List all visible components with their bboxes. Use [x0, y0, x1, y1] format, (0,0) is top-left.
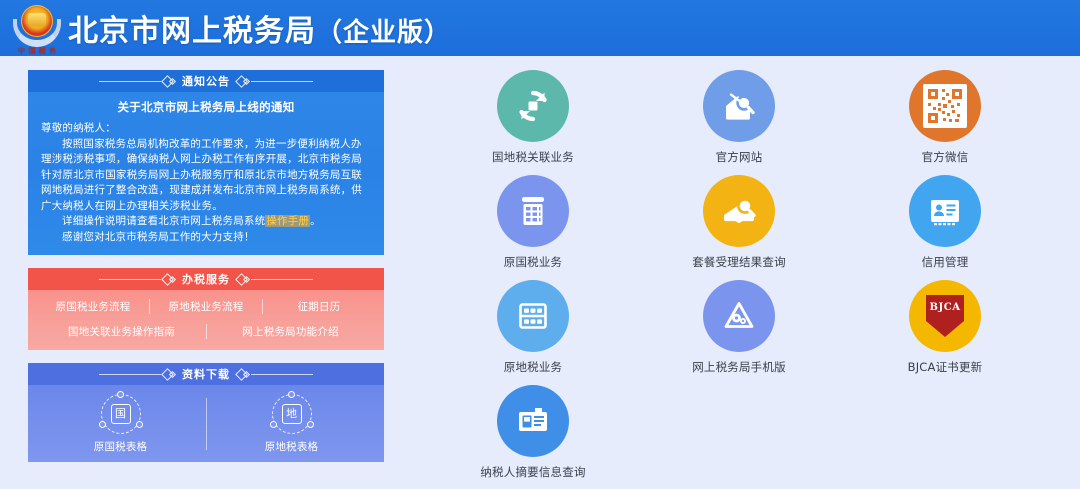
icon-circle — [497, 70, 569, 142]
building-grid-icon — [513, 191, 553, 231]
grid-item-official-website[interactable]: 官方网站 — [636, 70, 842, 175]
service-links-row-1: 原国税业务流程 原地税业务流程 征期日历 — [28, 297, 384, 316]
service-link-tax-period-calendar[interactable]: 征期日历 — [263, 297, 375, 316]
grid-item-former-national-tax-business[interactable]: 原国税业务 — [430, 175, 636, 280]
notice-paragraph-2-tail: 。 — [310, 215, 321, 227]
grid-item-official-wechat[interactable]: 官方微信 — [842, 70, 1048, 175]
service-panel-header: 办税服务 — [28, 268, 384, 290]
grid-item-label: 套餐受理结果查询 — [692, 254, 786, 270]
header-title-suffix: （企业版） — [316, 18, 451, 48]
grid-item-label: 信用管理 — [922, 254, 969, 270]
grid-item-mobile-version[interactable]: 网上税务局手机版 — [636, 280, 842, 385]
grid-item-joint-tax-business[interactable]: 国地税关联业务 — [430, 70, 636, 175]
network-ring-icon: 地 — [272, 394, 312, 434]
icon-circle — [909, 175, 981, 247]
download-item-glyph: 国 — [111, 404, 131, 424]
notice-paragraph-3: 感谢您对北京市税务局工作的大力支持！ — [41, 230, 371, 246]
icon-grid-row: 原国税业务 套餐受理结果查询 — [430, 175, 1050, 280]
download-item-label: 原国税表格 — [94, 439, 148, 454]
gear-triangle-icon — [719, 296, 759, 336]
bjca-badge-text: BJCA — [930, 302, 961, 313]
grid-item-label: 网上税务局手机版 — [692, 359, 786, 375]
ornament-right-icon — [237, 370, 313, 379]
grid-item-label: 国地税关联业务 — [492, 149, 574, 165]
resource-download-panel: 资料下载 国 原国税表格 地 — [28, 363, 384, 462]
icon-circle — [703, 70, 775, 142]
download-panel-heading: 资料下载 — [182, 366, 230, 382]
icon-grid-row: 原地税业务 网上税务局手机版 — [430, 280, 1050, 385]
grid-item-label: BJCA证书更新 — [908, 359, 983, 375]
tax-bureau-emblem-icon: 中国税务 — [12, 3, 62, 55]
icon-circle: BJCA — [909, 280, 981, 352]
header-title-main: 北京市网上税务局 — [68, 14, 316, 49]
notice-paragraph-1: 按照国家税务总局机构改革的工作要求，为进一步便利纳税人办理涉税涉税事项，确保纳税… — [41, 137, 371, 215]
service-panel-body: 原国税业务流程 原地税业务流程 征期日历 国地关联业务操作指南 网上税务局功能介… — [28, 290, 384, 350]
service-link-former-national-tax-process[interactable]: 原国税业务流程 — [37, 297, 149, 316]
operation-manual-link[interactable]: 操作手册 — [265, 215, 310, 227]
icon-grid-row: 纳税人摘要信息查询 — [430, 385, 1050, 489]
tax-service-panel: 办税服务 原国税业务流程 原地税业务流程 征期日历 国地关联业务操作指南 网上税… — [28, 268, 384, 350]
grid-item-label: 原国税业务 — [504, 254, 563, 270]
network-ring-icon: 国 — [101, 394, 141, 434]
sync-refresh-icon — [513, 86, 553, 126]
ornament-left-icon — [99, 370, 175, 379]
service-icon-grid: 国地税关联业务 官方网站 — [430, 70, 1050, 489]
download-panel-body: 国 原国税表格 地 原地税表格 — [28, 385, 384, 462]
ornament-left-icon — [99, 275, 175, 284]
service-links-row-2: 国地关联业务操作指南 网上税务局功能介绍 — [28, 322, 384, 341]
service-link-former-local-tax-process[interactable]: 原地税业务流程 — [150, 297, 262, 316]
document-card-icon — [513, 401, 553, 441]
notice-panel-body: 关于北京市网上税务局上线的通知 尊敬的纳税人： 按照国家税务总局机构改革的工作要… — [28, 92, 384, 255]
notice-paragraph-2-text: 详细操作说明请查看北京市网上税务局系统 — [62, 215, 265, 227]
ornament-right-icon — [237, 275, 313, 284]
notice-salutation: 尊敬的纳税人： — [41, 121, 371, 137]
grid-item-label: 原地税业务 — [504, 359, 563, 375]
notice-title: 关于北京市网上税务局上线的通知 — [41, 99, 371, 115]
icon-grid-row: 国地税关联业务 官方网站 — [430, 70, 1050, 175]
icon-circle — [497, 385, 569, 457]
grid-item-taxpayer-summary-query[interactable]: 纳税人摘要信息查询 — [430, 385, 636, 489]
house-search-icon — [719, 86, 759, 126]
service-panel-heading: 办税服务 — [182, 271, 230, 287]
ornament-left-icon — [99, 77, 175, 86]
grid-item-bjca-certificate-update[interactable]: BJCA BJCA证书更新 — [842, 280, 1048, 385]
page-title: 北京市网上税务局（企业版） — [68, 6, 451, 50]
grid-item-label: 官方网站 — [716, 149, 763, 165]
icon-circle — [703, 280, 775, 352]
app-header: 中国税务 北京市网上税务局（企业版） — [0, 0, 1080, 56]
notice-panel-header: 通知公告 — [28, 70, 384, 92]
icon-circle — [497, 175, 569, 247]
grid-item-package-result-query[interactable]: 套餐受理结果查询 — [636, 175, 842, 280]
left-column: 通知公告 关于北京市网上税务局上线的通知 尊敬的纳税人： 按照国家税务总局机构改… — [28, 70, 384, 475]
envelope-search-icon — [719, 191, 759, 231]
main-content: 通知公告 关于北京市网上税务局上线的通知 尊敬的纳税人： 按照国家税务总局机构改… — [0, 56, 1080, 489]
download-item-local-tax-forms[interactable]: 地 原地税表格 — [207, 394, 377, 454]
notice-paragraph-2: 详细操作说明请查看北京市网上税务局系统操作手册。 — [41, 214, 371, 230]
grid-item-former-local-tax-business[interactable]: 原地税业务 — [430, 280, 636, 385]
grid-item-credit-management[interactable]: 信用管理 — [842, 175, 1048, 280]
window-blocks-icon — [513, 296, 553, 336]
ornament-right-icon — [237, 77, 313, 86]
icon-circle — [497, 280, 569, 352]
service-link-feature-introduction[interactable]: 网上税务局功能介绍 — [207, 322, 375, 341]
notice-announcement-panel: 通知公告 关于北京市网上税务局上线的通知 尊敬的纳税人： 按照国家税务总局机构改… — [28, 70, 384, 255]
grid-item-label: 纳税人摘要信息查询 — [480, 464, 585, 480]
download-item-glyph: 地 — [282, 404, 302, 424]
download-panel-header: 资料下载 — [28, 363, 384, 385]
id-card-icon — [925, 191, 965, 231]
grid-item-label: 官方微信 — [922, 149, 969, 165]
icon-circle — [703, 175, 775, 247]
qr-code-icon — [923, 84, 967, 128]
icon-circle — [909, 70, 981, 142]
notice-panel-heading: 通知公告 — [182, 73, 230, 89]
bjca-shield-icon: BJCA — [926, 295, 964, 337]
download-item-national-tax-forms[interactable]: 国 原国税表格 — [36, 394, 206, 454]
download-item-label: 原地税表格 — [265, 439, 319, 454]
service-link-joint-business-guide[interactable]: 国地关联业务操作指南 — [38, 322, 206, 341]
